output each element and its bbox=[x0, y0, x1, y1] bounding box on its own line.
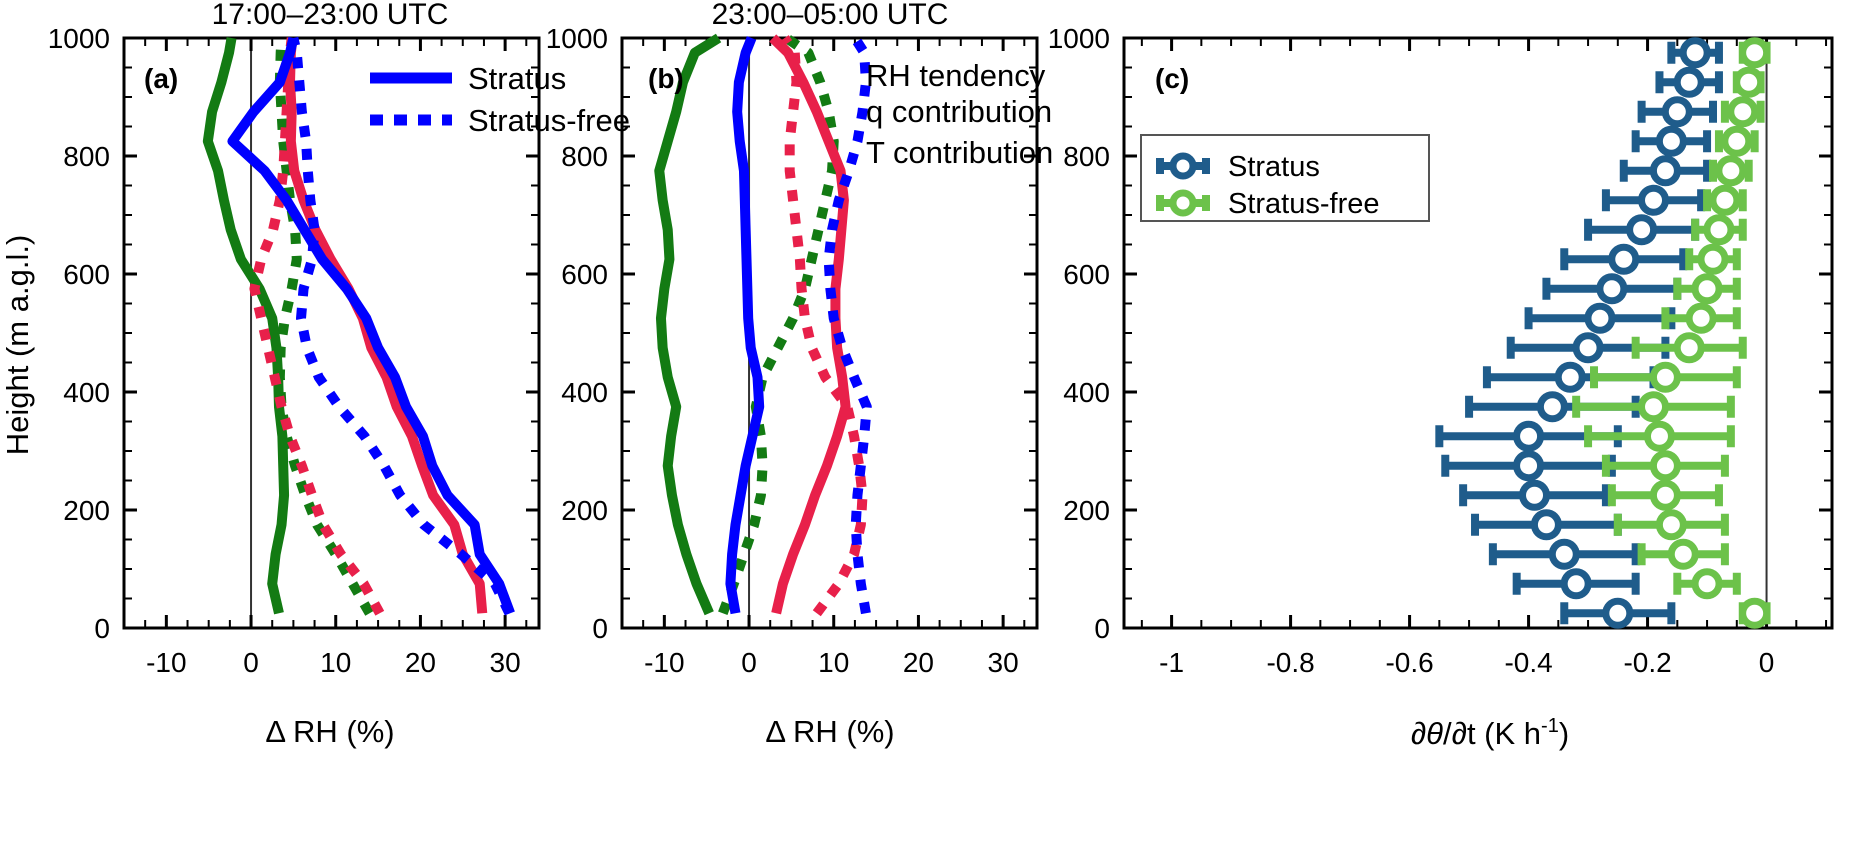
legend-label-t-contribution: T contribution bbox=[866, 135, 1053, 170]
legend-label-rh-tendency: RH tendency bbox=[866, 58, 1046, 93]
data-marker bbox=[1689, 306, 1713, 330]
x-tick-label: -1 bbox=[1159, 647, 1184, 678]
data-marker bbox=[1659, 513, 1683, 537]
data-marker bbox=[1653, 483, 1677, 507]
data-marker bbox=[1642, 395, 1666, 419]
error-bar-point bbox=[1594, 365, 1737, 389]
error-bar-point bbox=[1493, 542, 1636, 566]
y-tick-label: 1000 bbox=[48, 23, 110, 54]
data-marker bbox=[1701, 247, 1725, 271]
data-marker bbox=[1600, 277, 1624, 301]
error-bar-point bbox=[1659, 70, 1718, 94]
panel-c-label: (c) bbox=[1155, 63, 1189, 94]
data-marker bbox=[1588, 306, 1612, 330]
data-marker bbox=[1606, 601, 1630, 625]
error-bar-point bbox=[1642, 542, 1725, 566]
y-tick-label: 200 bbox=[63, 495, 110, 526]
x-tick-label: -0.6 bbox=[1385, 647, 1433, 678]
y-tick-label: 400 bbox=[63, 377, 110, 408]
x-tick-label: 30 bbox=[988, 647, 1019, 678]
error-bar-point bbox=[1612, 483, 1719, 507]
data-marker bbox=[1517, 454, 1541, 478]
data-marker bbox=[1695, 277, 1719, 301]
error-bar-point bbox=[1665, 306, 1736, 330]
error-bar-point bbox=[1636, 336, 1743, 360]
data-marker bbox=[1558, 365, 1582, 389]
panel-b-legend: RH tendency q contribution T contributio… bbox=[866, 58, 1053, 170]
error-bar-point bbox=[1636, 129, 1707, 153]
panel-c-x-axis-label-text: ∂θ/∂t (K h-1) bbox=[1411, 715, 1569, 751]
error-bar-point bbox=[1695, 218, 1743, 242]
panel-a-x-axis-label: Δ RH (%) bbox=[265, 714, 394, 749]
data-marker bbox=[1713, 188, 1737, 212]
data-curve bbox=[659, 38, 718, 613]
panel-b-label: (b) bbox=[648, 63, 684, 94]
data-marker bbox=[1523, 483, 1547, 507]
panel-c-legend: Stratus Stratus-free bbox=[1141, 135, 1429, 221]
y-tick-label: 400 bbox=[1063, 377, 1110, 408]
panel-a-label: (a) bbox=[144, 63, 178, 94]
data-marker bbox=[1737, 70, 1761, 94]
legend-label-q-contribution: q contribution bbox=[866, 94, 1052, 129]
error-bar-point bbox=[1618, 513, 1725, 537]
y-tick-label: 800 bbox=[561, 141, 608, 172]
data-marker bbox=[1630, 218, 1654, 242]
figure-root: Height (m a.g.l.) 17:00–23:00 UTC 020040… bbox=[0, 0, 1852, 867]
error-bar-point bbox=[1642, 100, 1713, 124]
data-marker bbox=[1647, 424, 1671, 448]
panel-c-axes bbox=[1124, 38, 1832, 628]
error-bar-point bbox=[1546, 277, 1677, 301]
legend-label-stratus: Stratus bbox=[468, 61, 566, 96]
x-tick-label: 0 bbox=[741, 647, 757, 678]
data-marker bbox=[1725, 129, 1749, 153]
data-marker bbox=[1653, 365, 1677, 389]
error-bar-point bbox=[1529, 306, 1672, 330]
data-marker bbox=[1671, 542, 1695, 566]
data-marker bbox=[1659, 129, 1683, 153]
data-marker bbox=[1540, 395, 1564, 419]
plot-frame bbox=[1124, 38, 1832, 628]
data-marker bbox=[1695, 572, 1719, 596]
x-tick-label: -0.2 bbox=[1623, 647, 1671, 678]
error-bar-point bbox=[1463, 483, 1606, 507]
y-tick-label: 800 bbox=[1063, 141, 1110, 172]
error-bar-point bbox=[1725, 100, 1761, 124]
panel-c-legend-label-stratus-free: Stratus-free bbox=[1228, 188, 1380, 220]
y-tick-label: 600 bbox=[561, 259, 608, 290]
panel-c-x-tick-labels: -1-0.8-0.6-0.4-0.20 bbox=[1159, 647, 1774, 678]
y-tick-label: 1000 bbox=[1048, 23, 1110, 54]
error-bar-point bbox=[1624, 159, 1707, 183]
data-marker bbox=[1743, 41, 1767, 65]
x-tick-label: -10 bbox=[146, 647, 186, 678]
data-marker bbox=[1653, 159, 1677, 183]
y-tick-label: 200 bbox=[561, 495, 608, 526]
data-marker bbox=[1665, 100, 1689, 124]
x-tick-label: 0 bbox=[243, 647, 259, 678]
error-bar-point bbox=[1588, 218, 1695, 242]
error-bar-point bbox=[1475, 513, 1618, 537]
error-bar-point bbox=[1737, 70, 1761, 94]
panel-b: 23:00–05:00 UTC 02004006008001000 -10010… bbox=[546, 0, 1054, 749]
error-bar-point bbox=[1606, 188, 1701, 212]
y-axis-label: Height (m a.g.l.) bbox=[0, 235, 35, 456]
error-bar-point bbox=[1677, 572, 1736, 596]
error-bar-point bbox=[1707, 188, 1743, 212]
y-tick-label: 600 bbox=[1063, 259, 1110, 290]
data-marker bbox=[1707, 218, 1731, 242]
data-marker bbox=[1731, 100, 1755, 124]
error-bar-point bbox=[1689, 247, 1737, 271]
data-marker bbox=[1517, 424, 1541, 448]
error-bar-point bbox=[1606, 454, 1725, 478]
y-tick-label: 1000 bbox=[546, 23, 608, 54]
y-tick-label: 600 bbox=[63, 259, 110, 290]
data-marker bbox=[1642, 188, 1666, 212]
error-bar-point bbox=[1671, 41, 1719, 65]
panel-c-error-bars bbox=[1439, 41, 1766, 626]
x-tick-label: 10 bbox=[818, 647, 849, 678]
y-tick-label: 0 bbox=[1094, 613, 1110, 644]
y-tick-label: 0 bbox=[94, 613, 110, 644]
error-bar-point bbox=[1713, 159, 1749, 183]
error-bar-point bbox=[1743, 601, 1767, 625]
panel-a-legend: Stratus Stratus-free bbox=[370, 61, 630, 138]
panel-a-curves bbox=[208, 38, 510, 613]
panel-c-y-tick-labels: 02004006008001000 bbox=[1048, 23, 1110, 644]
legend-label-stratus-free: Stratus-free bbox=[468, 103, 630, 138]
panel-a-y-tick-labels: 02004006008001000 bbox=[48, 23, 110, 644]
data-marker bbox=[1576, 336, 1600, 360]
error-bar-point bbox=[1576, 395, 1731, 419]
x-tick-label: 20 bbox=[405, 647, 436, 678]
y-tick-label: 400 bbox=[561, 377, 608, 408]
x-tick-label: 0 bbox=[1759, 647, 1775, 678]
data-marker bbox=[1653, 454, 1677, 478]
x-tick-label: 30 bbox=[490, 647, 521, 678]
data-marker bbox=[1677, 336, 1701, 360]
data-marker bbox=[1552, 542, 1576, 566]
error-bar-point bbox=[1588, 424, 1731, 448]
panel-b-x-axis-label: Δ RH (%) bbox=[765, 714, 894, 749]
error-bar-point bbox=[1517, 572, 1636, 596]
panel-c-x-axis-label: ∂θ/∂t (K h-1) bbox=[1411, 715, 1569, 751]
data-marker bbox=[1683, 41, 1707, 65]
data-marker bbox=[1743, 601, 1767, 625]
error-bar-point bbox=[1677, 277, 1736, 301]
data-marker bbox=[1612, 247, 1636, 271]
panel-b-title: 23:00–05:00 UTC bbox=[712, 0, 949, 31]
panel-c: 02004006008001000 -1-0.8-0.6-0.4-0.20 (c… bbox=[1048, 23, 1832, 751]
x-tick-label: 20 bbox=[903, 647, 934, 678]
x-tick-label: 10 bbox=[320, 647, 351, 678]
data-marker bbox=[1719, 159, 1743, 183]
error-bar-point bbox=[1445, 454, 1612, 478]
error-bar-point bbox=[1719, 129, 1755, 153]
error-bar-point bbox=[1564, 601, 1671, 625]
x-tick-label: -0.8 bbox=[1266, 647, 1314, 678]
data-marker bbox=[1534, 513, 1558, 537]
panel-a: 17:00–23:00 UTC 02004006008001000 -10010… bbox=[48, 0, 630, 749]
y-tick-label: 800 bbox=[63, 141, 110, 172]
x-tick-label: -10 bbox=[644, 647, 684, 678]
error-bar-point bbox=[1743, 41, 1767, 65]
panel-c-legend-label-stratus: Stratus bbox=[1228, 151, 1320, 183]
x-tick-label: -0.4 bbox=[1504, 647, 1552, 678]
y-axis-label-text: Height (m a.g.l.) bbox=[0, 235, 35, 456]
data-marker bbox=[1677, 70, 1701, 94]
panel-a-title: 17:00–23:00 UTC bbox=[212, 0, 449, 31]
y-tick-label: 0 bbox=[592, 613, 608, 644]
figure-canvas: Height (m a.g.l.) 17:00–23:00 UTC 020040… bbox=[0, 0, 1852, 867]
error-bar-point bbox=[1564, 247, 1683, 271]
panel-b-curves bbox=[659, 38, 867, 613]
y-tick-label: 200 bbox=[1063, 495, 1110, 526]
panel-b-x-tick-labels: -100102030 bbox=[644, 647, 1019, 678]
data-marker bbox=[1564, 572, 1588, 596]
panel-a-x-tick-labels: -100102030 bbox=[146, 647, 521, 678]
